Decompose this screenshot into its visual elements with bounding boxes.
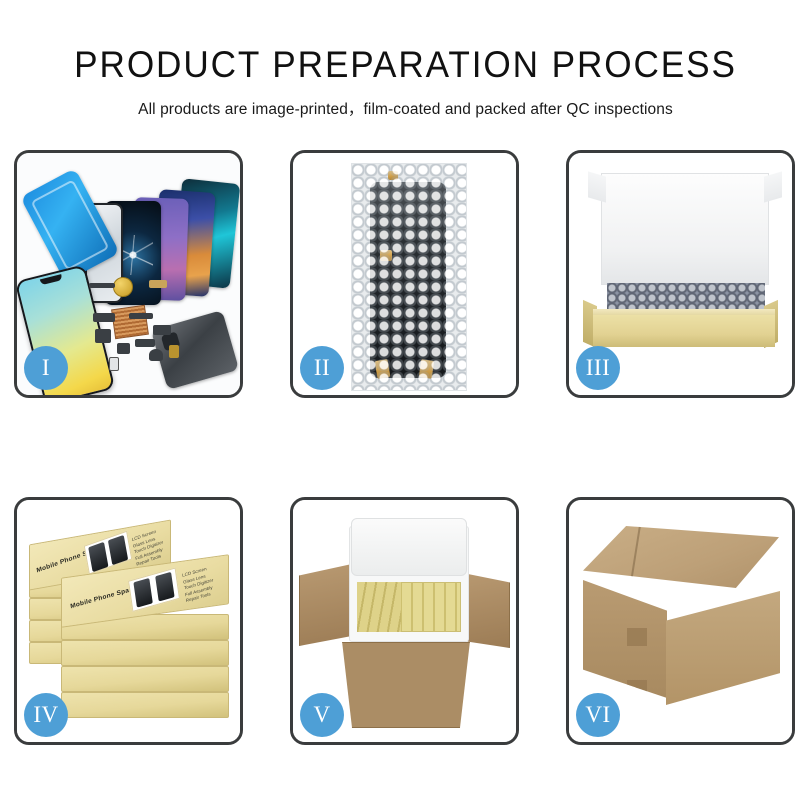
part-cable bbox=[135, 339, 155, 347]
stacked-box bbox=[61, 666, 229, 692]
step-badge-1: I bbox=[24, 346, 68, 390]
step-panel-2: II bbox=[290, 150, 519, 398]
gold-tab-mid bbox=[380, 250, 392, 261]
part-camera bbox=[153, 325, 171, 335]
part-receiver bbox=[149, 349, 163, 361]
carton-body bbox=[335, 642, 477, 728]
gold-tab-bottom-right bbox=[419, 359, 434, 379]
step-panel-6: VI bbox=[566, 497, 795, 745]
step-badge-6: VI bbox=[576, 693, 620, 737]
step-panel-3: III bbox=[566, 150, 795, 398]
part-bracket bbox=[95, 329, 111, 343]
part-strip bbox=[89, 283, 115, 288]
logic-board-chip bbox=[111, 305, 149, 339]
step-badge-3: III bbox=[576, 346, 620, 390]
gold-boxes-inside-left bbox=[357, 582, 401, 632]
screen-thumb bbox=[108, 535, 128, 565]
carton-right-face bbox=[666, 591, 780, 705]
page-title: PRODUCT PREPARATION PROCESS bbox=[20, 44, 790, 86]
carton-tape-lower bbox=[627, 680, 647, 696]
box-lid-open bbox=[601, 173, 769, 285]
carton-left-face bbox=[583, 580, 667, 698]
phone-back-housing bbox=[151, 310, 239, 390]
screen-thumb bbox=[133, 578, 152, 608]
step-panel-5: V bbox=[290, 497, 519, 745]
box-spec-lines: LCD Screen Glass Lens Touch Digitizer Fu… bbox=[182, 565, 216, 605]
box-product-photo bbox=[128, 568, 180, 612]
speaker-module-icon bbox=[113, 277, 133, 297]
foam-lid-open bbox=[351, 518, 467, 576]
stacked-box bbox=[61, 640, 229, 666]
carton-top-face bbox=[583, 526, 779, 588]
part-flex bbox=[93, 313, 115, 322]
part-antenna bbox=[129, 313, 153, 319]
step-badge-5: V bbox=[300, 693, 344, 737]
product-preparation-infographic: PRODUCT PREPARATION PROCESS All products… bbox=[0, 0, 811, 811]
carton-tape-upper bbox=[627, 628, 647, 646]
header: PRODUCT PREPARATION PROCESS All products… bbox=[0, 0, 811, 119]
box-front-panel bbox=[593, 315, 775, 347]
step-panel-1: I bbox=[14, 150, 243, 398]
box-spec-lines: LCD Screen Glass Lens Touch Digitizer Fu… bbox=[131, 527, 166, 568]
step-panel-4: Mobile Phone Spare Parts LCD Screen Glas… bbox=[14, 497, 243, 745]
part-sim-tray bbox=[109, 357, 119, 371]
page-subtitle: All products are image-printed，film-coat… bbox=[0, 97, 811, 119]
stacked-box bbox=[61, 692, 229, 718]
screen-thumb bbox=[88, 542, 108, 572]
carton-seam bbox=[629, 526, 641, 588]
part-screw-set bbox=[169, 345, 179, 358]
process-steps-grid: I II bbox=[14, 150, 797, 745]
step-badge-2: II bbox=[300, 346, 344, 390]
flex-cable bbox=[382, 256, 398, 368]
part-button bbox=[117, 343, 130, 354]
bubble-wrap-bag bbox=[351, 163, 467, 391]
gold-tab-top bbox=[388, 171, 398, 180]
step-badge-4: IV bbox=[24, 693, 68, 737]
part-connector bbox=[149, 280, 167, 288]
screen-thumb bbox=[155, 572, 174, 602]
